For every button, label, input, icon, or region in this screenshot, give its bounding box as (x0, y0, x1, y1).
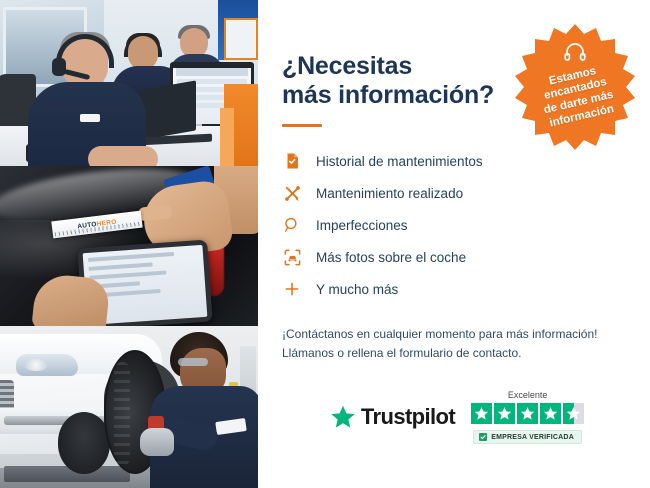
mechanic-wheel-photo (0, 326, 258, 488)
feature-label: Más fotos sobre el coche (316, 250, 466, 265)
mechanic-figure (146, 332, 258, 488)
title-divider (282, 124, 322, 127)
mechanic-glove (140, 428, 174, 456)
trustpilot-widget[interactable]: Trustpilot Excelente (282, 390, 632, 444)
contact-text-line-1: ¡Contáctanos en cualquier momento para m… (282, 327, 598, 341)
trustpilot-rating: Excelente (471, 390, 584, 444)
rating-label: Excelente (508, 390, 548, 400)
call-center-agents-photo (0, 0, 258, 166)
tablet-row (89, 262, 153, 270)
page-title: ¿Necesitas más información? (282, 52, 512, 110)
agent-name-badge (80, 114, 100, 122)
feature-item-imperfections: Imperfecciones (282, 209, 626, 241)
feature-label: Y mucho más (316, 282, 398, 297)
features-list: Historial de mantenimientos M (282, 145, 626, 305)
page-title-line-2: más información? (282, 81, 494, 109)
agent-arm (88, 146, 158, 166)
car-focus-icon (282, 247, 302, 267)
car-lift-ramp (4, 466, 130, 482)
tablet-row (88, 252, 174, 262)
tire-tread (114, 362, 130, 466)
star-filled (517, 403, 538, 424)
wall-poster-inner (224, 18, 258, 60)
feature-item-more-photos: Más fotos sobre el coche (282, 241, 626, 273)
content-panel: ¿Necesitas más información? Historial de… (258, 0, 650, 488)
star-filled (540, 403, 561, 424)
ruler-brand-label: AUTOHERO (77, 219, 117, 231)
wrench-screwdriver-icon (282, 183, 302, 203)
car-inspection-ruler-photo: AUTOHERO (0, 166, 258, 326)
car-rear-tire (58, 412, 110, 474)
car-headlight (16, 354, 78, 376)
verified-check-icon (479, 433, 487, 441)
tablet-row (89, 270, 166, 279)
feature-label: Mantenimiento realizado (316, 186, 463, 201)
star-half (563, 403, 584, 424)
page-title-line-1: ¿Necesitas (282, 52, 412, 80)
support-badge: Estamos encantados de darte más informac… (510, 22, 640, 152)
information-promo-poster: AUTOHERO (0, 0, 650, 488)
badge-text-block: Estamos encantados de darte más informac… (497, 9, 650, 165)
feature-item-maintenance-done: Mantenimiento realizado (282, 177, 626, 209)
trustpilot-logo[interactable]: Trustpilot (330, 404, 455, 430)
document-check-icon (282, 151, 302, 171)
star-filled (471, 403, 492, 424)
screen-bar (176, 68, 248, 76)
verified-label: EMPRESA VERIFICADA (491, 434, 574, 441)
star-filled (494, 403, 515, 424)
trustpilot-wordmark: Trustpilot (361, 404, 455, 430)
feature-item-much-more: Y mucho más (282, 273, 626, 305)
contact-text-line-2: Llámanos o rellena el formulario de cont… (282, 346, 521, 360)
feature-label: Historial de mantenimientos (316, 154, 483, 169)
contact-text: ¡Contáctanos en cualquier momento para m… (282, 325, 626, 364)
feature-label: Imperfecciones (316, 218, 408, 233)
trustpilot-star-icon (330, 404, 356, 430)
verified-company-badge: EMPRESA VERIFICADA (473, 430, 582, 444)
agent-foreground (26, 36, 146, 166)
orange-panel-secondary (220, 108, 234, 166)
star-rating (471, 403, 584, 424)
photo-column: AUTOHERO (0, 0, 258, 488)
safety-glasses (178, 358, 208, 366)
magnifier-icon (282, 215, 302, 235)
plus-icon (282, 279, 302, 299)
